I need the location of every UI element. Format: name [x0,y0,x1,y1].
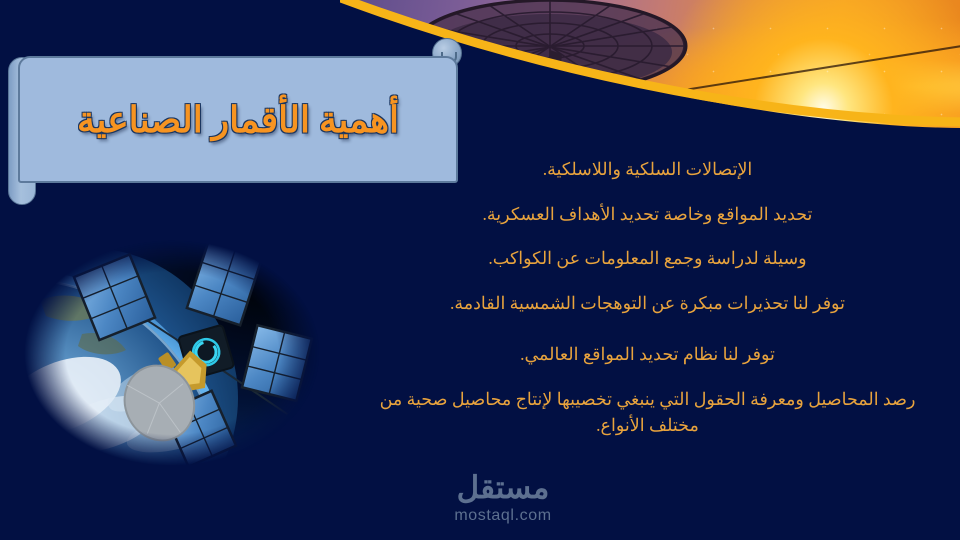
list-item: توفر لنا تحذيرات مبكرة عن التوهجات الشمس… [375,292,920,316]
presentation-slide: أهمية الأقمار الصناعية [0,0,960,540]
list-item: تحديد المواقع وخاصة تحديد الأهداف العسكر… [375,203,920,227]
watermark: مستقل mostaql.com [418,472,588,525]
list-item: الإتصالات السلكية واللاسلكية. [375,158,920,182]
list-item: توفر لنا نظام تحديد المواقع العالمي. [375,343,920,367]
page-title: أهمية الأقمار الصناعية [77,99,399,141]
watermark-domain-text: mostaql.com [418,507,588,525]
list-item: رصد المحاصيل ومعرفة الحقول التي ينبغي تخ… [375,387,920,438]
earth-satellite-photo [22,238,322,468]
list-item: وسيلة لدراسة وجمع المعلومات عن الكواكب. [375,247,920,271]
watermark-arabic-text: مستقل [418,472,588,503]
bullet-list: الإتصالات السلكية واللاسلكية. تحديد المو… [375,158,920,438]
